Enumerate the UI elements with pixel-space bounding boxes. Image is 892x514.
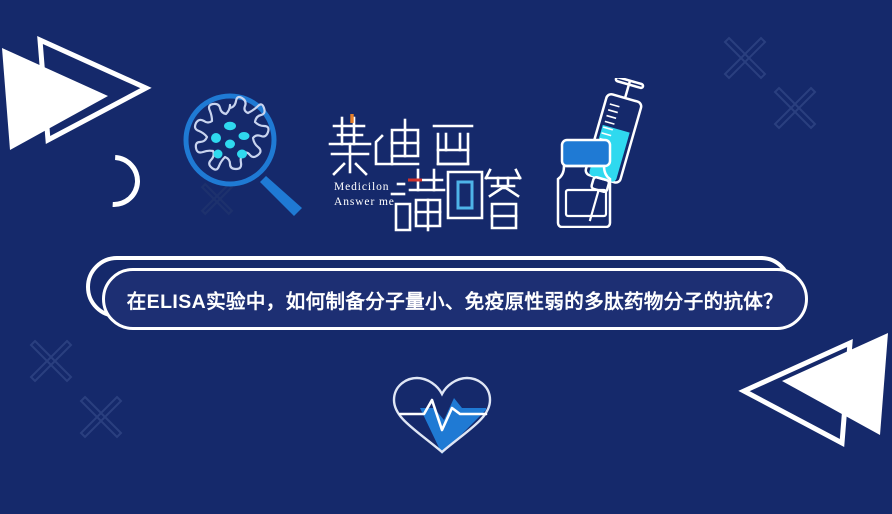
triangle-pair-top-left-icon [0, 18, 166, 153]
crescent-arc-icon [77, 144, 150, 217]
heart-pulse-icon [386, 374, 498, 458]
x-mark-bottom-left-2-icon [78, 394, 124, 440]
x-mark-faint-icon [200, 182, 234, 216]
syringe-vial-icon [548, 78, 674, 228]
question-text: 在ELISA实验中，如何制备分子量小、免疫原性弱的多肽药物分子的抗体？ [127, 285, 783, 314]
magnifier-virus-icon [178, 88, 310, 220]
medicilon-answer-me-banner: Medicilon Answer me 在ELISA实验中，如何制备分子量小、免… [0, 0, 892, 514]
logo-blue-square [458, 182, 472, 208]
x-mark-top-right-2-icon [772, 85, 818, 131]
logo-latin-line-2: Answer me [334, 195, 395, 210]
question-pill: 在ELISA实验中，如何制备分子量小、免疫原性弱的多肽药物分子的抗体？ [86, 256, 808, 330]
triangle-pair-bottom-right-icon [724, 327, 892, 462]
medicilon-logo: Medicilon Answer me [322, 108, 524, 240]
x-mark-bottom-left-1-icon [28, 338, 74, 384]
question-pill-body: 在ELISA实验中，如何制备分子量小、免疫原性弱的多肽药物分子的抗体？ [102, 268, 808, 330]
logo-chinese-characters [322, 108, 524, 240]
x-mark-top-right-1-icon [722, 35, 768, 81]
logo-latin-line-1: Medicilon [334, 180, 395, 195]
logo-latin-text: Medicilon Answer me [334, 180, 395, 210]
